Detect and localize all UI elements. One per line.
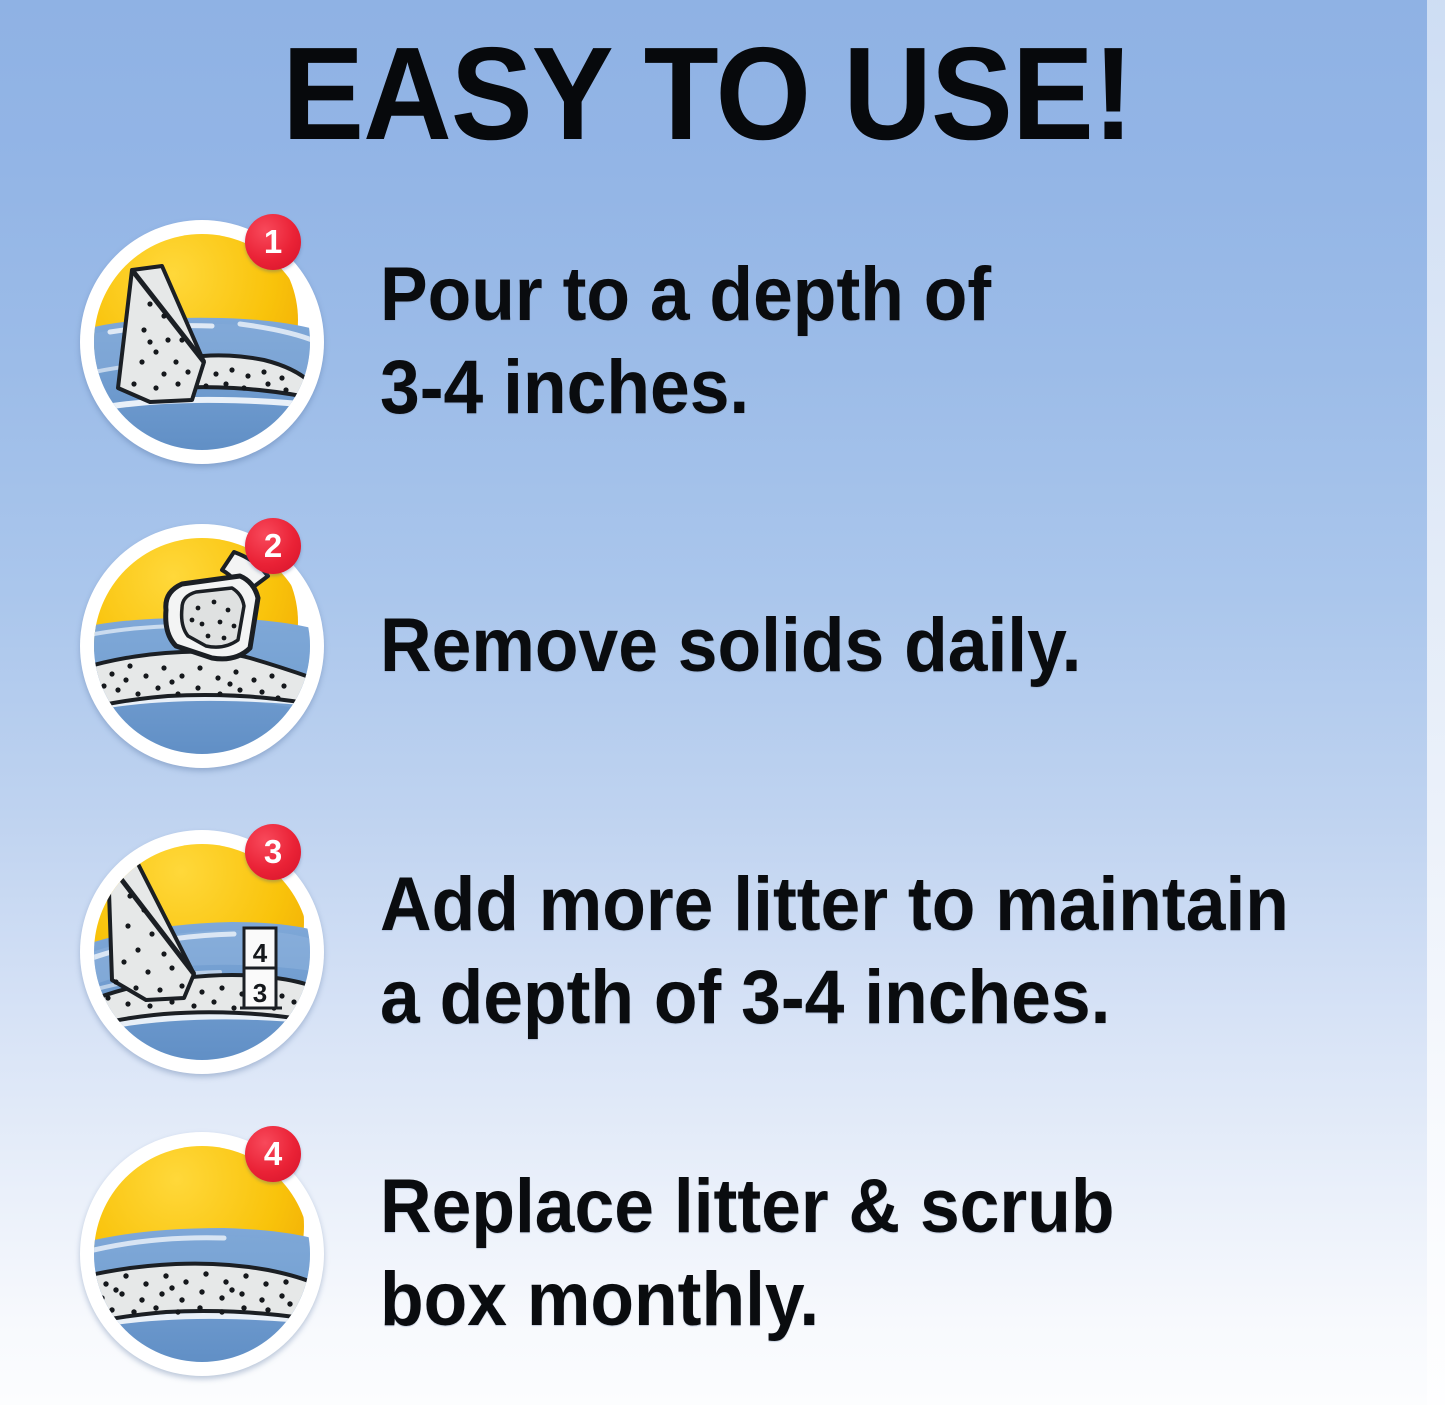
step-1-text: Pour to a depth of 3-4 inches. xyxy=(380,249,991,434)
step-row-1: 1 Pour to a depth of 3-4 inches. xyxy=(0,212,1445,472)
step-row-3: 4 3 3 Add more litter to maintain a dept… xyxy=(0,822,1445,1082)
step-2-icon-wrap: 2 xyxy=(72,516,332,776)
svg-text:4: 4 xyxy=(253,938,268,968)
step-number-badge-1: 1 xyxy=(245,214,301,270)
step-row-4: 4 Replace litter & scrub box monthly. xyxy=(0,1124,1445,1384)
step-number-badge-3: 3 xyxy=(245,824,301,880)
step-number-badge-2: 2 xyxy=(245,518,301,574)
step-4-icon-wrap: 4 xyxy=(72,1124,332,1384)
page-title: EASY TO USE! xyxy=(50,28,1366,160)
step-1-icon-wrap: 1 xyxy=(72,212,332,472)
easy-to-use-infographic: EASY TO USE! xyxy=(0,0,1445,1405)
svg-text:3: 3 xyxy=(253,978,267,1008)
depth-ruler: 4 3 xyxy=(240,928,282,1008)
step-row-2: 2 Remove solids daily. xyxy=(0,516,1445,776)
step-3-text: Add more litter to maintain a depth of 3… xyxy=(380,859,1289,1044)
step-2-text: Remove solids daily. xyxy=(380,600,1081,693)
step-number-badge-4: 4 xyxy=(245,1126,301,1182)
step-3-icon-wrap: 4 3 3 xyxy=(72,822,332,1082)
step-4-text: Replace litter & scrub box monthly. xyxy=(380,1161,1114,1346)
